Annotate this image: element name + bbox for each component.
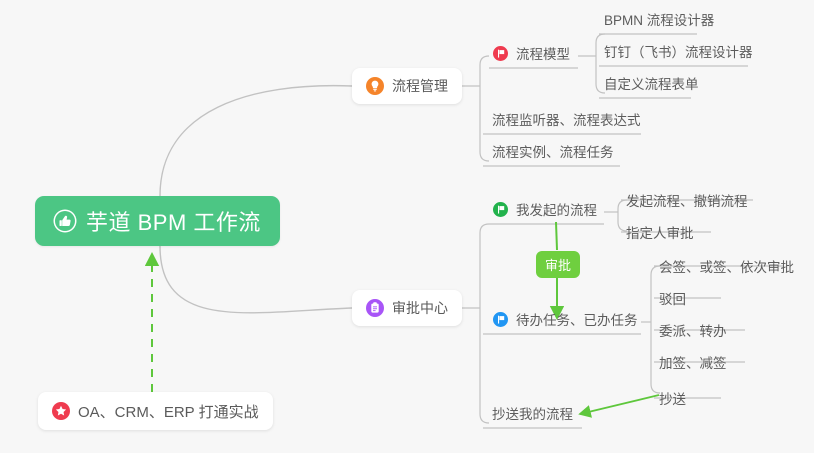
node-label-assignee-approval: 指定人审批 — [626, 222, 694, 242]
node-label-dingtalk-feishu-designer: 钉钉（飞书）流程设计器 — [604, 41, 753, 61]
star-icon — [52, 402, 70, 420]
branch-node-approval-center[interactable]: 审批中心 — [352, 290, 462, 326]
node-label-cc-to-me-process: 抄送我的流程 — [492, 403, 573, 423]
node-custom-process-form[interactable]: 自定义流程表单 — [600, 68, 705, 98]
node-process-instance-task[interactable]: 流程实例、流程任务 — [488, 136, 620, 166]
branch-label-process-management: 流程管理 — [392, 76, 448, 96]
node-label-my-started-process: 我发起的流程 — [516, 199, 597, 219]
node-countersign-orsign-sequential[interactable]: 会签、或签、依次审批 — [655, 251, 800, 281]
node-label-add-remove-sign: 加签、减签 — [659, 352, 727, 372]
node-label-process-model: 流程模型 — [516, 43, 570, 63]
root-node[interactable]: 芋道 BPM 工作流 — [35, 196, 280, 246]
node-process-listener-expression[interactable]: 流程监听器、流程表达式 — [488, 104, 647, 134]
branch-node-process-management[interactable]: 流程管理 — [352, 68, 462, 104]
clipboard-icon — [366, 299, 384, 317]
thumbs-up-icon — [53, 209, 77, 233]
node-process-model[interactable]: 流程模型 — [489, 38, 576, 68]
node-label-start-cancel-process: 发起流程、撤销流程 — [626, 190, 748, 210]
mindmap-canvas: 芋道 BPM 工作流 流程管理 流程模型 BPMN 流程设计器 钉钉（飞书）流程 — [0, 0, 814, 453]
node-label-todo-done-tasks: 待办任务、已办任务 — [516, 309, 638, 329]
node-label-process-listener-expression: 流程监听器、流程表达式 — [492, 109, 641, 129]
node-reject[interactable]: 驳回 — [655, 283, 692, 313]
node-label-bpmn-designer: BPMN 流程设计器 — [604, 9, 714, 29]
lightbulb-pin-icon — [366, 77, 384, 95]
node-label-countersign-orsign-sequential: 会签、或签、依次审批 — [659, 256, 794, 276]
node-label-delegate-transfer: 委派、转办 — [659, 320, 727, 340]
flag-icon — [493, 312, 508, 327]
node-cc-to-me-process[interactable]: 抄送我的流程 — [488, 398, 579, 428]
node-label-reject: 驳回 — [659, 288, 686, 308]
node-dingtalk-feishu-designer[interactable]: 钉钉（飞书）流程设计器 — [600, 36, 759, 66]
footnote-label: OA、CRM、ERP 打通实战 — [78, 401, 259, 422]
node-start-cancel-process[interactable]: 发起流程、撤销流程 — [622, 185, 754, 215]
root-label: 芋道 BPM 工作流 — [86, 205, 261, 237]
approval-badge-label: 审批 — [545, 255, 571, 274]
node-bpmn-designer[interactable]: BPMN 流程设计器 — [600, 4, 720, 34]
node-my-started-process[interactable]: 我发起的流程 — [489, 194, 603, 224]
flag-icon — [493, 46, 508, 61]
flag-icon — [493, 202, 508, 217]
node-label-cc: 抄送 — [659, 388, 686, 408]
node-label-process-instance-task: 流程实例、流程任务 — [492, 141, 614, 161]
approval-badge[interactable]: 审批 — [536, 251, 580, 278]
node-assignee-approval[interactable]: 指定人审批 — [622, 217, 700, 247]
node-delegate-transfer[interactable]: 委派、转办 — [655, 315, 733, 345]
branch-label-approval-center: 审批中心 — [392, 298, 448, 318]
node-cc[interactable]: 抄送 — [655, 383, 692, 413]
node-label-custom-process-form: 自定义流程表单 — [604, 73, 699, 93]
footnote-node-integration[interactable]: OA、CRM、ERP 打通实战 — [38, 392, 273, 430]
node-todo-done-tasks[interactable]: 待办任务、已办任务 — [489, 304, 644, 334]
node-add-remove-sign[interactable]: 加签、减签 — [655, 347, 733, 377]
